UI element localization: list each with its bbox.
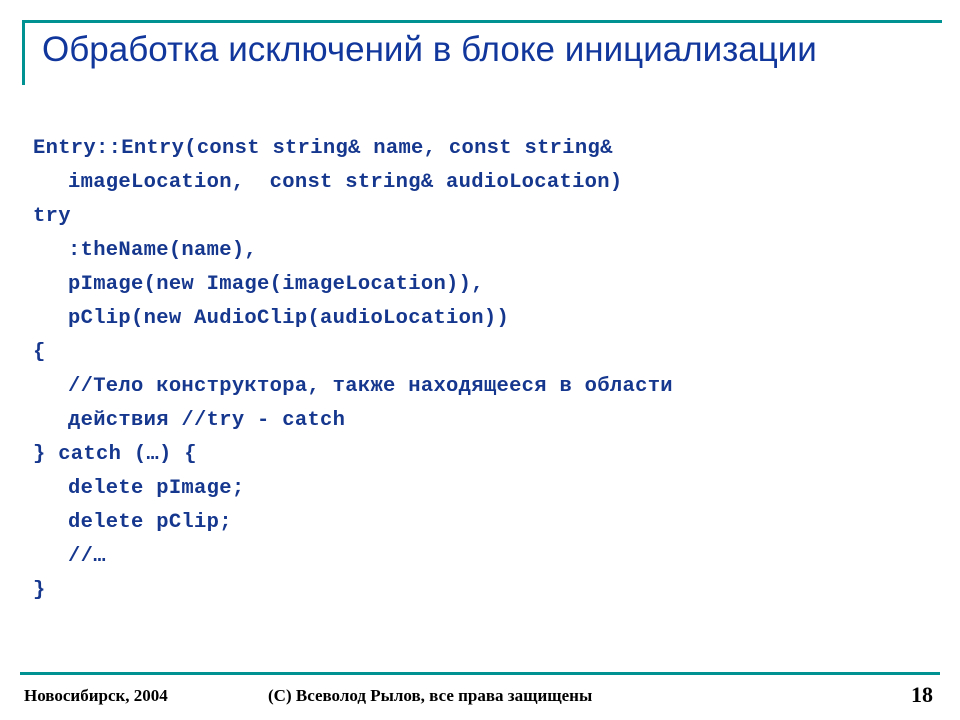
code-line: delete pImage; <box>33 473 933 507</box>
code-line: imageLocation, const string& audioLocati… <box>33 167 933 201</box>
code-line: pClip(new AudioClip(audioLocation)) <box>33 303 933 337</box>
footer-location-date: Новосибирск, 2004 <box>24 686 168 706</box>
page-title: Обработка исключений в блоке инициализац… <box>22 23 942 72</box>
slide-canvas: Обработка исключений в блоке инициализац… <box>0 0 960 720</box>
code-line: delete pClip; <box>33 507 933 541</box>
code-line: //… <box>33 541 933 575</box>
code-line: pImage(new Image(imageLocation)), <box>33 269 933 303</box>
slide-number: 18 <box>911 682 933 708</box>
code-line: { <box>33 337 933 371</box>
code-line: действия //try - catch <box>33 405 933 439</box>
slide-footer: Новосибирск, 2004 (С) Всеволод Рылов, вс… <box>0 682 960 716</box>
code-block: Entry::Entry(const string& name, const s… <box>33 133 933 609</box>
code-line: //Тело конструктора, также находящееся в… <box>33 371 933 405</box>
code-line: Entry::Entry(const string& name, const s… <box>33 133 933 167</box>
title-accent-bar <box>22 23 25 85</box>
title-block: Обработка исключений в блоке инициализац… <box>22 20 942 72</box>
code-line: :theName(name), <box>33 235 933 269</box>
footer-divider <box>20 672 940 675</box>
footer-copyright: (С) Всеволод Рылов, все права защищены <box>268 686 592 706</box>
code-line: } <box>33 575 933 609</box>
code-line: try <box>33 201 933 235</box>
code-line: } catch (…) { <box>33 439 933 473</box>
